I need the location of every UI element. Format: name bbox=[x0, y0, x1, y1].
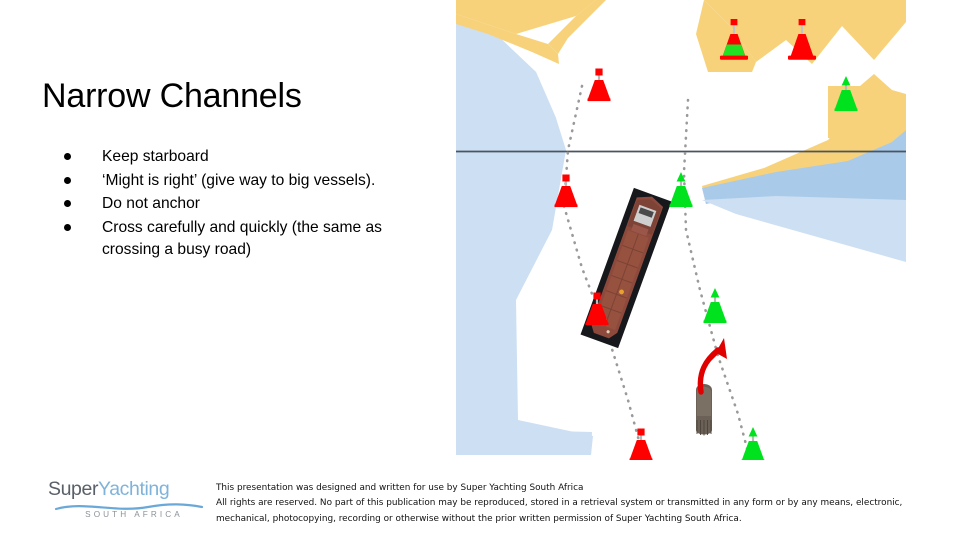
logo-swoosh-icon bbox=[54, 502, 204, 514]
logo-wordmark: SuperYachting bbox=[48, 478, 208, 501]
bullet-dot-icon bbox=[64, 224, 71, 231]
copyright-line-2: All rights are reserved. No part of this… bbox=[216, 496, 916, 511]
logo-word-primary: Super bbox=[48, 478, 98, 500]
list-item: Cross carefully and quickly (the same as… bbox=[60, 217, 430, 262]
bullet-text: Do not anchor bbox=[102, 195, 200, 212]
bullet-text: Cross carefully and quickly (the same as… bbox=[102, 219, 382, 259]
list-item: ‘Might is right’ (give way to big vessel… bbox=[60, 170, 430, 193]
bullet-text: ‘Might is right’ (give way to big vessel… bbox=[102, 172, 375, 189]
bullet-dot-icon bbox=[64, 200, 71, 207]
narrow-channel-diagram bbox=[456, 0, 906, 460]
bullet-dot-icon bbox=[64, 153, 71, 160]
logo: SuperYachting SOUTH AFRICA bbox=[48, 478, 208, 526]
list-item: Keep starboard bbox=[60, 146, 430, 169]
bullet-dot-icon bbox=[64, 177, 71, 184]
page-title: Narrow Channels bbox=[42, 77, 442, 116]
bullet-text: Keep starboard bbox=[102, 148, 209, 165]
bullet-list: Keep starboard ‘Might is right’ (give wa… bbox=[60, 146, 430, 263]
copyright-line-1: This presentation was designed and writt… bbox=[216, 481, 916, 496]
slide: Narrow Channels Keep starboard ‘Might is… bbox=[0, 0, 960, 540]
logo-word-secondary: Yachting bbox=[98, 478, 169, 500]
copyright-notice: This presentation was designed and writt… bbox=[216, 481, 916, 527]
list-item: Do not anchor bbox=[60, 193, 430, 216]
copyright-line-3: mechanical, photocopying, recording or o… bbox=[216, 512, 916, 527]
